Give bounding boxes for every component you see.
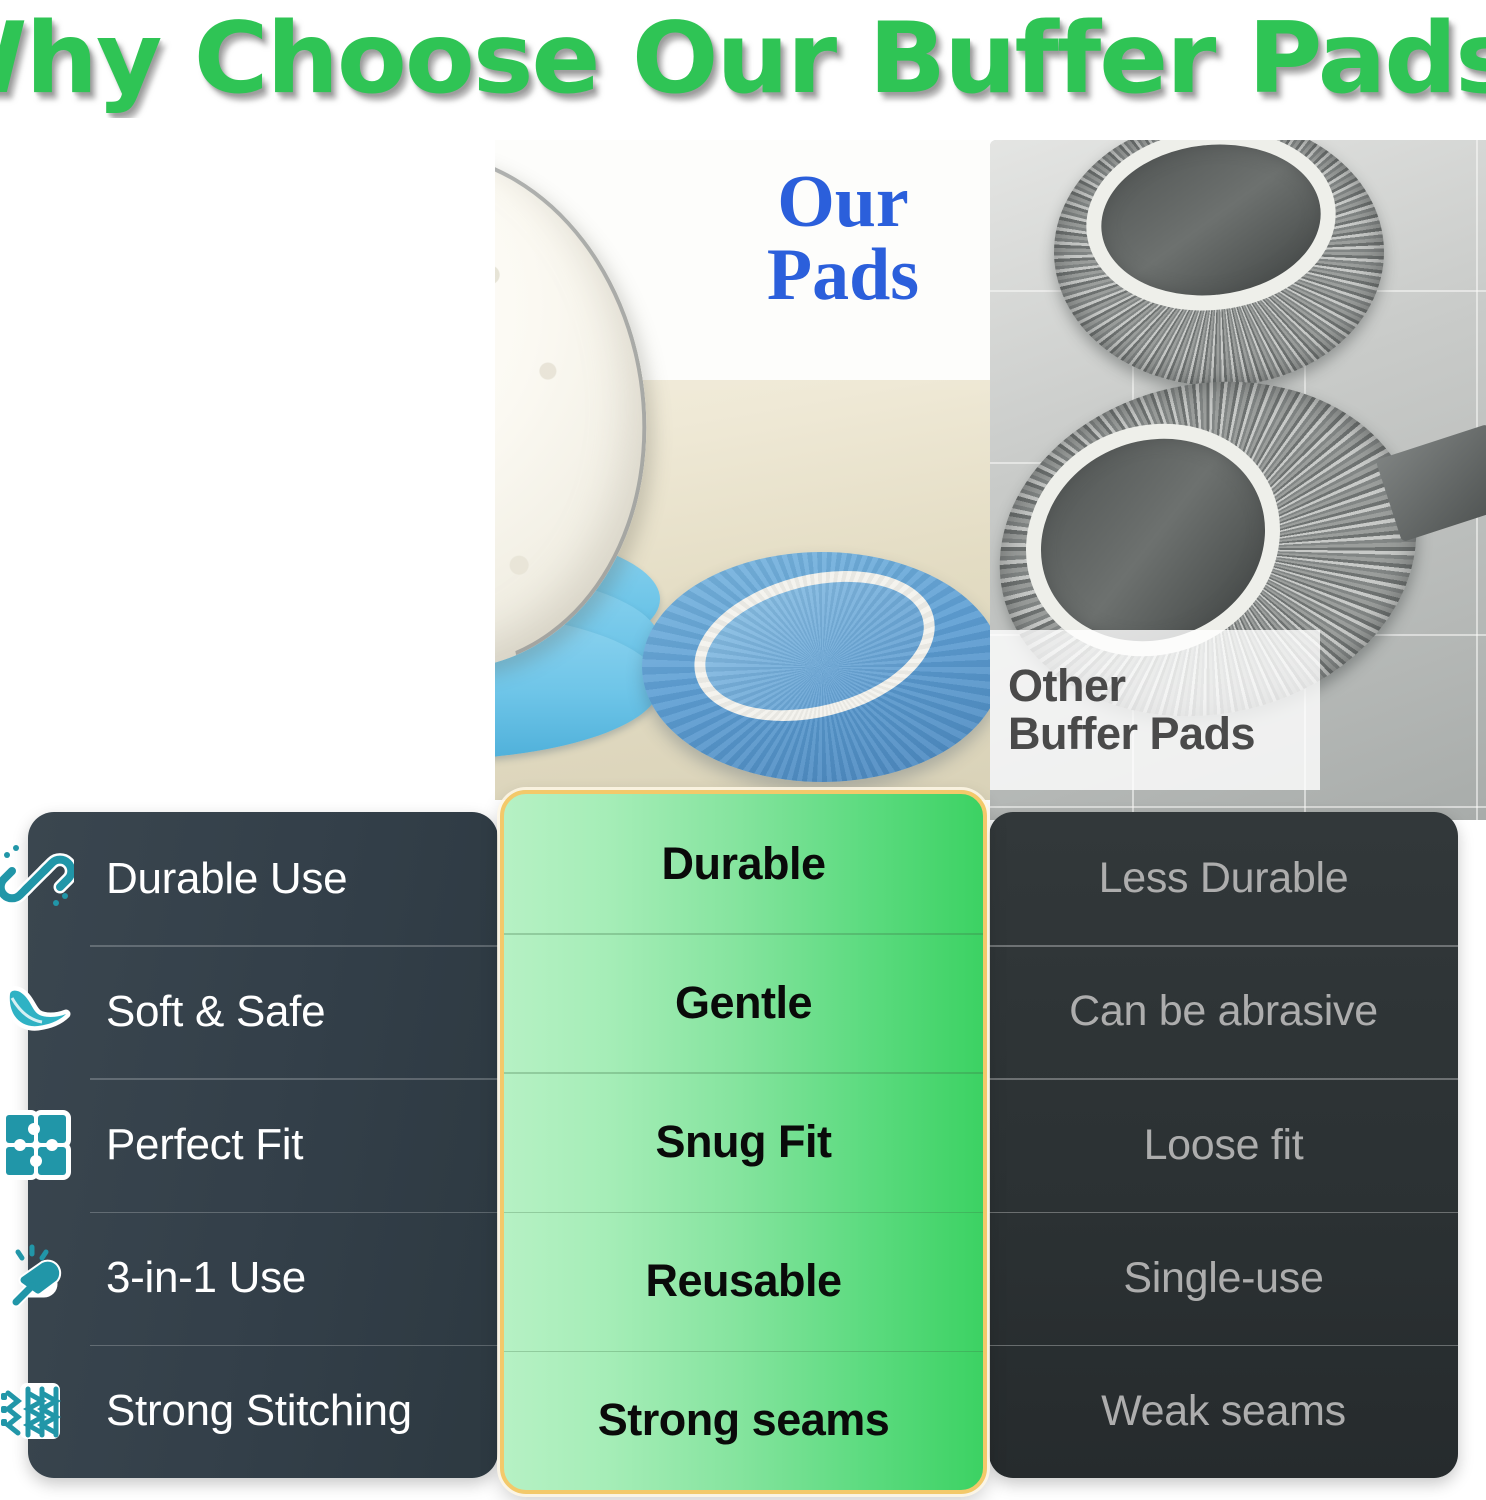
page-title: Why Choose Our Buffer Pads? xyxy=(0,0,1486,118)
feature-label: 3-in-1 Use xyxy=(106,1253,306,1303)
stitching-icon xyxy=(0,1373,74,1449)
other-pads-label-line1: Other xyxy=(1008,662,1320,710)
other-pads-row: Loose fit xyxy=(989,1078,1458,1211)
other-pads-column: Less Durable Can be abrasive Loose fit S… xyxy=(989,812,1458,1478)
feature-row: Strong Stitching xyxy=(28,1345,498,1478)
other-pads-label: Other Buffer Pads xyxy=(990,630,1320,790)
puzzle-icon xyxy=(0,1107,74,1183)
our-pads-row: Reusable xyxy=(504,1212,983,1351)
our-pads-value: Reusable xyxy=(645,1255,841,1307)
feature-label: Soft & Safe xyxy=(106,987,325,1037)
feature-row: Soft & Safe xyxy=(28,945,498,1078)
other-pads-value: Less Durable xyxy=(1099,854,1349,903)
our-pads-value: Strong seams xyxy=(598,1394,890,1446)
feature-label: Strong Stitching xyxy=(106,1386,412,1436)
our-pads-value: Snug Fit xyxy=(656,1116,832,1168)
our-pads-value: Gentle xyxy=(675,977,812,1029)
page-title-text: Why Choose Our Buffer Pads? xyxy=(0,9,1486,109)
other-pads-row: Can be abrasive xyxy=(989,945,1458,1078)
polish-hand-icon xyxy=(0,1240,74,1316)
other-pads-value: Single-use xyxy=(1123,1254,1323,1303)
our-pads-column: Durable Gentle Snug Fit Reusable Strong … xyxy=(500,790,987,1494)
feature-row: 3-in-1 Use xyxy=(28,1212,498,1345)
feature-row: Perfect Fit xyxy=(28,1078,498,1211)
feature-label: Durable Use xyxy=(106,854,347,904)
our-pads-row: Snug Fit xyxy=(504,1072,983,1211)
chain-link-icon xyxy=(0,841,74,917)
feature-column: Durable Use Soft & Safe xyxy=(28,812,498,1478)
other-pads-row: Less Durable xyxy=(989,812,1458,945)
other-pads-label-line2: Buffer Pads xyxy=(1008,710,1320,758)
our-pads-label: Our Pads xyxy=(718,166,968,311)
our-pads-value: Durable xyxy=(661,838,825,890)
feature-row: Durable Use xyxy=(28,812,498,945)
our-pads-row: Gentle xyxy=(504,933,983,1072)
other-pads-row: Weak seams xyxy=(989,1345,1458,1478)
our-pads-row: Durable xyxy=(504,794,983,933)
comparison-table: Durable Use Soft & Safe xyxy=(0,790,1486,1500)
blue-microfiber-bonnet-image xyxy=(642,552,990,782)
other-pads-value: Weak seams xyxy=(1101,1387,1346,1436)
our-pads-row: Strong seams xyxy=(504,1351,983,1490)
other-pads-row: Single-use xyxy=(989,1212,1458,1345)
other-pads-photo: Other Buffer Pads xyxy=(990,140,1486,820)
our-pads-photo: Our Pads xyxy=(495,140,990,800)
feature-label: Perfect Fit xyxy=(106,1120,303,1170)
feather-icon xyxy=(0,974,74,1050)
other-pads-value: Loose fit xyxy=(1144,1121,1304,1170)
other-pads-value: Can be abrasive xyxy=(1069,987,1378,1036)
product-photo-band: Our Pads Other Buffer Pads xyxy=(0,140,1486,820)
